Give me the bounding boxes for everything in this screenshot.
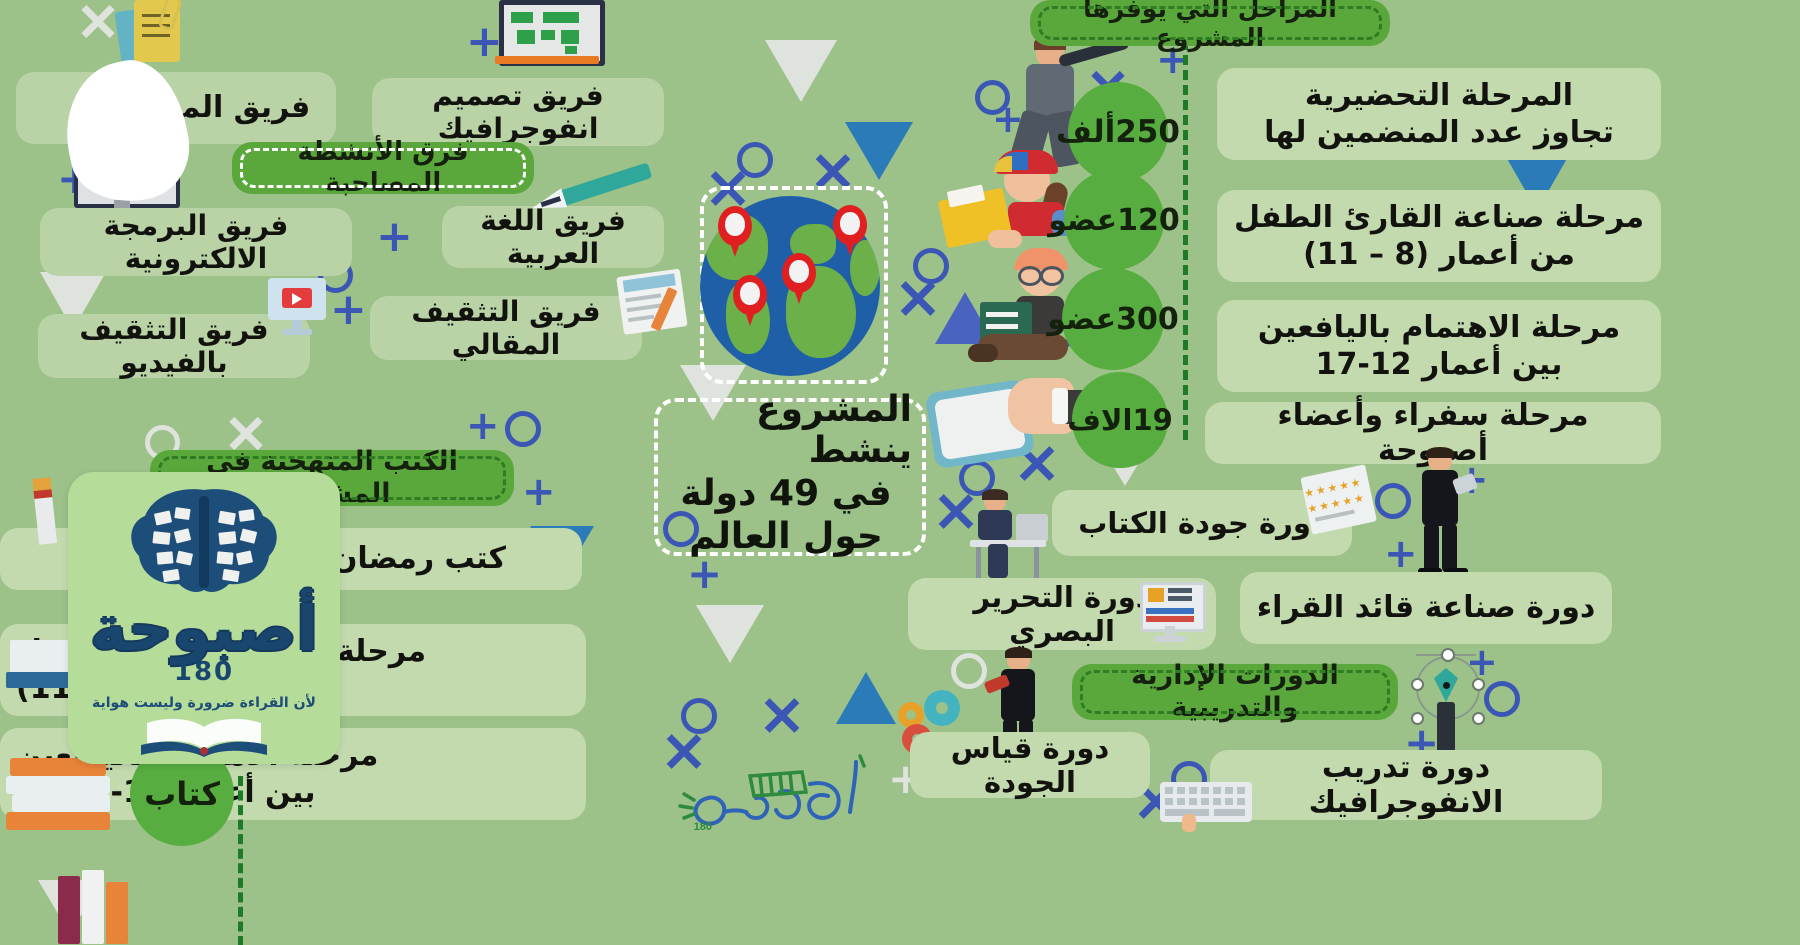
logo-number: 180 xyxy=(174,657,234,687)
pencil-icon xyxy=(24,476,65,551)
stage-line-1: مرحلة صناعة القارئ الطفل xyxy=(1234,200,1644,235)
stages-header: المراحل التي يوفرها المشروع xyxy=(1030,0,1390,46)
book-spines-icon xyxy=(58,870,150,945)
admin-training-header: الدورات الإدارية والتدريبية xyxy=(1072,664,1398,720)
infographic-canvas: + + + + + + + + + + + + + + + + لية فريق… xyxy=(0,0,1800,945)
stage-line-2: بين أعمار 12-17 xyxy=(1316,347,1563,382)
stat-circle-19: 19الاف xyxy=(1072,372,1168,468)
course-pill-quality-measurement[interactable]: دورة قياس الجودة xyxy=(910,732,1150,798)
stage-pill-preparatory[interactable]: المرحلة التحضيرية تجاوز عدد المنضمين لها xyxy=(1217,68,1661,160)
video-monitor-icon xyxy=(268,278,330,336)
brain-made-of-books-icon xyxy=(119,486,289,598)
activities-teams-header: فرق الأنشطة المصاحبة xyxy=(232,142,534,194)
pin-dot xyxy=(789,260,808,282)
plus-doodle: + xyxy=(466,406,500,446)
logo-tagline: لأن القراءة ضرورة وليست هواية xyxy=(92,695,316,711)
vertical-divider xyxy=(1183,40,1188,440)
documents-icon xyxy=(118,0,190,62)
circle-doodle xyxy=(505,411,541,447)
course-label: دورة صناعة قائد القراء xyxy=(1257,590,1595,625)
stat-value: 19الاف xyxy=(1067,403,1173,437)
stage-pill-child-reader[interactable]: مرحلة صناعة القارئ الطفل من أعمار (8 – 1… xyxy=(1217,190,1661,282)
course-label: دورة قياس الجودة xyxy=(926,731,1134,799)
pin-dot xyxy=(725,213,744,235)
logo-wordmark: أصبوحة xyxy=(90,592,318,665)
map-pin xyxy=(833,205,867,245)
header-label: المراحل التي يوفرها المشروع xyxy=(1046,0,1374,53)
circle-doodle xyxy=(1484,681,1520,717)
pin-dot xyxy=(740,282,759,304)
keyboard-icon xyxy=(1160,782,1256,830)
triangle-doodle xyxy=(696,605,764,663)
stage-line-2: من أعمار (8 – 11) xyxy=(1303,237,1575,272)
caption-line-2: في 49 دولة xyxy=(680,473,891,514)
map-pin xyxy=(733,275,767,315)
triangle-doodle xyxy=(765,40,837,102)
circle-doodle xyxy=(951,653,987,689)
plus-doodle: + xyxy=(330,288,367,332)
vertical-divider xyxy=(238,776,243,945)
man-desk-computer-icon xyxy=(962,492,1054,592)
course-label: دورة تدريب الانفوجرافيك xyxy=(1226,750,1586,821)
caption-line-3: حول العالم xyxy=(689,516,883,557)
stat-value: 120عضو xyxy=(1048,203,1180,238)
map-pin xyxy=(782,253,816,293)
circle-doodle xyxy=(681,698,717,734)
header-label: فرق الأنشطة المصاحبة xyxy=(248,137,518,198)
book-circle-label: كتاب xyxy=(144,775,220,813)
brand-logo-card[interactable]: أصبوحة 180 لأن القراءة ضرورة وليست هواية xyxy=(68,472,340,764)
team-label: فريق التثقيف المقالي xyxy=(386,295,626,361)
triangle-doodle xyxy=(836,672,896,724)
stat-value: 250ألف xyxy=(1056,114,1180,150)
stage-line-2: تجاوز عدد المنضمين لها xyxy=(1264,115,1614,150)
document-pencil-icon xyxy=(616,267,698,337)
stage-pill-teens[interactable]: مرحلة الاهتمام باليافعين بين أعمار 12-17 xyxy=(1217,300,1661,392)
book-stack-icon xyxy=(0,640,76,710)
triangle-doodle xyxy=(845,122,913,180)
plus-doodle: + xyxy=(376,215,413,259)
plus-doodle: + xyxy=(687,553,722,595)
course-pill-reader-leader[interactable]: دورة صناعة قائد القراء xyxy=(1240,572,1612,644)
stat-value: 300عضو xyxy=(1047,302,1179,337)
team-label: فريق تصميم انفوجرافيك xyxy=(388,79,648,145)
team-label: فريق التثقيف بالفيديو xyxy=(54,313,294,379)
header-label: الدورات الإدارية والتدريبية xyxy=(1088,660,1382,724)
globe-caption: المشروع ينشط في 49 دولة حول العالم xyxy=(660,404,912,542)
brand-watermark: 180 xyxy=(660,752,890,832)
course-pill-infographic-training[interactable]: دورة تدريب الانفوجرافيك xyxy=(1210,750,1602,820)
rating-sheet-icon: ★★★★★ ★★★★★ xyxy=(1300,463,1381,538)
team-pill-essay[interactable]: فريق التثقيف المقالي xyxy=(370,296,642,360)
plus-doodle: + xyxy=(522,472,556,512)
team-pill-infographic-design[interactable]: فريق تصميم انفوجرافيك xyxy=(372,78,664,146)
team-label: فريق البرمجة الالكترونية xyxy=(56,209,336,275)
caption-line-1: المشروع ينشط xyxy=(660,389,912,471)
man-tablet-standing-icon xyxy=(1404,450,1484,580)
book-stack-icon xyxy=(6,758,116,842)
stage-line-1: مرحلة الاهتمام باليافعين xyxy=(1258,310,1620,345)
team-pill-programming[interactable]: فريق البرمجة الالكترونية xyxy=(40,208,352,276)
pin-dot xyxy=(840,212,859,234)
stat-circle-300: 300عضو xyxy=(1062,268,1164,370)
handwritten-brand-doodle: 180 xyxy=(660,752,890,832)
open-book-icon xyxy=(139,715,269,759)
stage-line-1: المرحلة التحضيرية xyxy=(1305,78,1573,113)
laptop-diagram-icon xyxy=(495,0,599,72)
visual-editor-monitor-icon xyxy=(1140,582,1202,644)
books-label: كتب رمضان xyxy=(332,541,506,576)
watermark-number: 180 xyxy=(694,821,712,832)
map-pin xyxy=(718,206,752,246)
course-label: دورة جودة الكتاب xyxy=(1078,506,1326,540)
